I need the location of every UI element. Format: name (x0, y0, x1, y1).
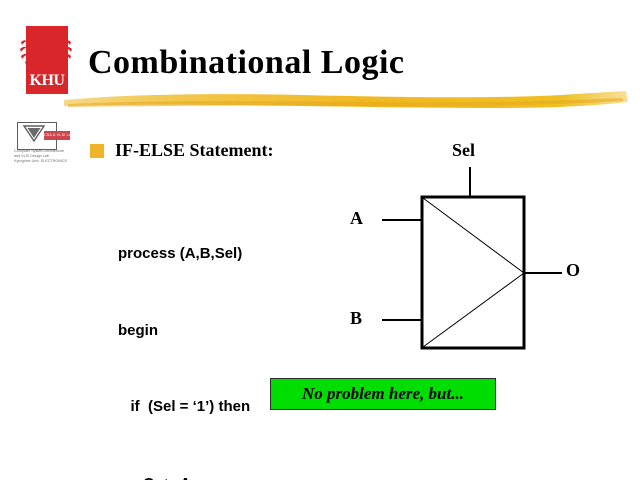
mux-input-a-label: A (350, 208, 363, 229)
mux-input-b-label: B (350, 308, 362, 329)
page-title: Combinational Logic (88, 44, 404, 82)
lab-logo-v-icon (23, 125, 45, 142)
callout-text: No problem here, but... (302, 384, 464, 404)
mux-schematic-svg (330, 130, 630, 370)
mux-select-label: Sel (452, 140, 475, 161)
code-line: begin (118, 318, 250, 344)
callout-box: No problem here, but... (270, 378, 496, 410)
lab-logo-badge-text: CSA & VLSI Lab (44, 131, 70, 140)
mux-output-label: O (566, 260, 580, 281)
gold-swoosh-divider (62, 88, 628, 110)
mux-diagram: Sel A B O (330, 130, 630, 370)
lab-logo: CSA & VLSI Lab Computer System Architect… (14, 122, 76, 164)
code-line: O <= A; (118, 471, 250, 480)
lab-caption-line-3: Kyunghee Univ. ELECTRONICS (14, 159, 76, 164)
lab-logo-caption: Computer System Architecture and VLSI De… (14, 149, 76, 165)
mux-body (422, 197, 524, 348)
code-line: process (A,B,Sel) (118, 241, 250, 267)
vhdl-code-block: process (A,B,Sel) begin if (Sel = ‘1’) t… (118, 190, 250, 480)
bullet-heading-label: IF-ELSE Statement: (115, 140, 274, 161)
bullet-square-icon (90, 144, 104, 158)
lab-logo-badge: CSA & VLSI Lab (44, 131, 70, 140)
bullet-heading: IF-ELSE Statement: (90, 140, 274, 161)
code-line: if (Sel = ‘1’) then (118, 394, 250, 420)
slide-canvas: KHU Combinational Logic CSA & VLSI Lab (0, 0, 640, 480)
khu-globe-laurel-icon (18, 28, 74, 72)
